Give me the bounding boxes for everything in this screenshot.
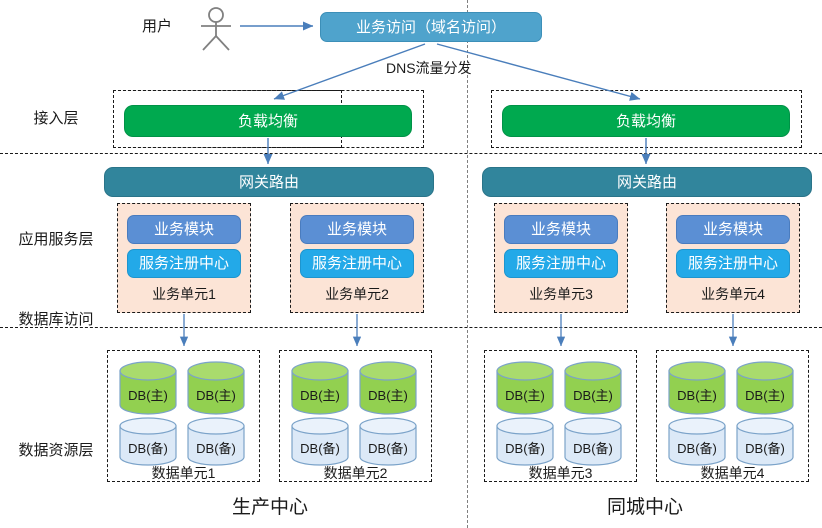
- dns-distribution-label: DNS流量分发: [386, 61, 472, 75]
- data-unit-4-caption: 数据单元4: [657, 466, 808, 480]
- site-label-metro: 同城中心: [550, 498, 740, 517]
- db-primary-3-2[interactable]: DB(主): [563, 361, 623, 420]
- db-primary-4-1[interactable]: DB(主): [667, 361, 727, 420]
- business-module-1[interactable]: 业务模块: [127, 215, 241, 244]
- entry-box-business-access[interactable]: 业务访问（域名访问）: [320, 12, 542, 42]
- gateway-router-left[interactable]: 网关路由: [104, 167, 434, 197]
- db-primary-4-2-label: DB(主): [735, 389, 795, 402]
- data-unit-2-caption: 数据单元2: [280, 466, 431, 480]
- business-unit-2-caption: 业务单元2: [291, 287, 423, 301]
- db-standby-2-1-label: DB(备): [290, 442, 350, 455]
- db-standby-4-2[interactable]: DB(备): [735, 417, 795, 472]
- layer-label-db-access: 数据库访问: [4, 312, 108, 327]
- business-unit-1-caption: 业务单元1: [118, 287, 250, 301]
- db-standby-1-1[interactable]: DB(备): [118, 417, 178, 472]
- user-actor-icon: [192, 6, 240, 57]
- db-standby-2-2[interactable]: DB(备): [358, 417, 418, 472]
- service-registry-1[interactable]: 服务注册中心: [127, 249, 241, 278]
- layer-separator-access-app: [0, 153, 822, 154]
- actor-label: 用户: [142, 19, 172, 34]
- db-standby-2-2-label: DB(备): [358, 442, 418, 455]
- db-standby-4-1[interactable]: DB(备): [667, 417, 727, 472]
- layer-separator-app-data: [0, 327, 822, 328]
- db-primary-1-2-label: DB(主): [186, 389, 246, 402]
- db-primary-1-1-label: DB(主): [118, 389, 178, 402]
- db-primary-2-2[interactable]: DB(主): [358, 361, 418, 420]
- service-registry-4[interactable]: 服务注册中心: [676, 249, 790, 278]
- db-standby-4-2-label: DB(备): [735, 442, 795, 455]
- service-registry-3[interactable]: 服务注册中心: [504, 249, 618, 278]
- db-primary-3-1[interactable]: DB(主): [495, 361, 555, 420]
- db-standby-2-1[interactable]: DB(备): [290, 417, 350, 472]
- db-primary-3-2-label: DB(主): [563, 389, 623, 402]
- data-unit-4[interactable]: DB(主) DB(主) DB(备) DB(备) 数据单元4: [656, 350, 809, 482]
- business-module-2[interactable]: 业务模块: [300, 215, 414, 244]
- db-standby-1-1-label: DB(备): [118, 442, 178, 455]
- db-standby-3-2[interactable]: DB(备): [563, 417, 623, 472]
- business-unit-3[interactable]: 业务模块 服务注册中心 业务单元3: [494, 203, 628, 313]
- site-divider: [467, 0, 468, 528]
- business-module-4[interactable]: 业务模块: [676, 215, 790, 244]
- service-registry-2[interactable]: 服务注册中心: [300, 249, 414, 278]
- db-standby-1-2[interactable]: DB(备): [186, 417, 246, 472]
- db-standby-3-1-label: DB(备): [495, 442, 555, 455]
- data-unit-3-caption: 数据单元3: [485, 466, 636, 480]
- layer-label-access: 接入层: [8, 111, 104, 126]
- db-standby-3-1[interactable]: DB(备): [495, 417, 555, 472]
- db-primary-2-2-label: DB(主): [358, 389, 418, 402]
- data-unit-2[interactable]: DB(主) DB(主) DB(备) DB(备) 数据单元2: [279, 350, 432, 482]
- gateway-router-right[interactable]: 网关路由: [482, 167, 812, 197]
- access-zone-left-outline: [113, 90, 424, 148]
- business-unit-2[interactable]: 业务模块 服务注册中心 业务单元2: [290, 203, 424, 313]
- db-primary-1-2[interactable]: DB(主): [186, 361, 246, 420]
- business-module-3[interactable]: 业务模块: [504, 215, 618, 244]
- layer-label-app: 应用服务层: [4, 232, 108, 247]
- db-standby-4-1-label: DB(备): [667, 442, 727, 455]
- data-unit-3[interactable]: DB(主) DB(主) DB(备) DB(备) 数据单元3: [484, 350, 637, 482]
- site-label-production: 生产中心: [175, 498, 365, 517]
- db-primary-4-1-label: DB(主): [667, 389, 727, 402]
- load-balancer-right[interactable]: 负载均衡: [502, 105, 790, 137]
- db-primary-1-1[interactable]: DB(主): [118, 361, 178, 420]
- db-standby-1-2-label: DB(备): [186, 442, 246, 455]
- architecture-diagram: 接入层 应用服务层 数据库访问 数据资源层 用户 业务访问（域名访问） DNS流…: [0, 0, 822, 528]
- business-unit-4-caption: 业务单元4: [667, 287, 799, 301]
- business-unit-4[interactable]: 业务模块 服务注册中心 业务单元4: [666, 203, 800, 313]
- db-primary-2-1-label: DB(主): [290, 389, 350, 402]
- layer-label-data: 数据资源层: [4, 443, 108, 458]
- db-primary-4-2[interactable]: DB(主): [735, 361, 795, 420]
- business-unit-3-caption: 业务单元3: [495, 287, 627, 301]
- db-primary-3-1-label: DB(主): [495, 389, 555, 402]
- db-primary-2-1[interactable]: DB(主): [290, 361, 350, 420]
- db-standby-3-2-label: DB(备): [563, 442, 623, 455]
- business-unit-1[interactable]: 业务模块 服务注册中心 业务单元1: [117, 203, 251, 313]
- data-unit-1-caption: 数据单元1: [108, 466, 259, 480]
- data-unit-1[interactable]: DB(主) DB(主) DB(备) DB(备) 数据单元1: [107, 350, 260, 482]
